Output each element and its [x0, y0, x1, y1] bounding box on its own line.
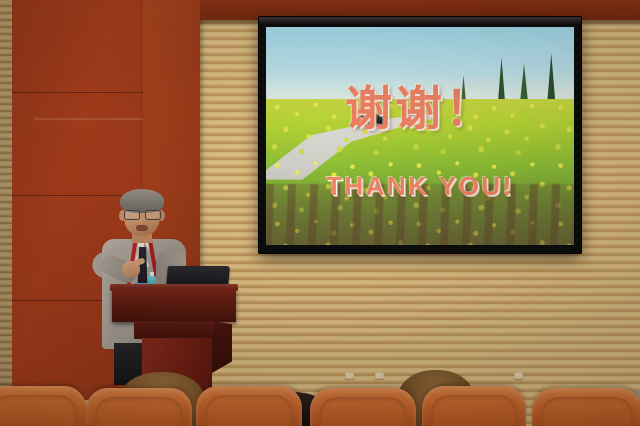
seat-cushion	[431, 395, 517, 426]
seat-cushion	[541, 397, 633, 426]
wall-scuff-mark	[34, 118, 146, 120]
auditorium-seat[interactable]	[196, 386, 302, 426]
glasses-icon	[124, 210, 161, 218]
speaker-mouth	[136, 225, 148, 231]
wall-outlet-icon	[514, 372, 523, 379]
wall-outlet-icon	[375, 372, 384, 379]
auditorium-seat[interactable]	[0, 386, 86, 426]
podium-side-panel	[212, 321, 232, 373]
screen-top-rail	[259, 17, 581, 24]
presentation-slide: 谢谢！ THANK YOU!	[266, 27, 574, 245]
auditorium-seat[interactable]	[310, 388, 416, 426]
auditorium-seat[interactable]	[422, 386, 526, 426]
slide-chinese-text: 谢谢！	[266, 86, 574, 133]
seat-cushion	[205, 395, 293, 426]
auditorium-photo: 谢谢！ THANK YOU!	[0, 0, 640, 426]
podium-desktop	[112, 288, 236, 322]
seat-cushion	[95, 397, 183, 426]
auditorium-seat[interactable]	[86, 388, 192, 426]
projection-screen: 谢谢！ THANK YOU!	[259, 17, 581, 253]
seat-cushion	[0, 395, 77, 426]
seat-cushion	[319, 397, 407, 426]
wall-outlet-icon	[345, 372, 354, 379]
slide-english-text: THANK YOU!	[266, 171, 574, 202]
podium-neck	[134, 321, 214, 339]
auditorium-seat[interactable]	[532, 388, 640, 426]
